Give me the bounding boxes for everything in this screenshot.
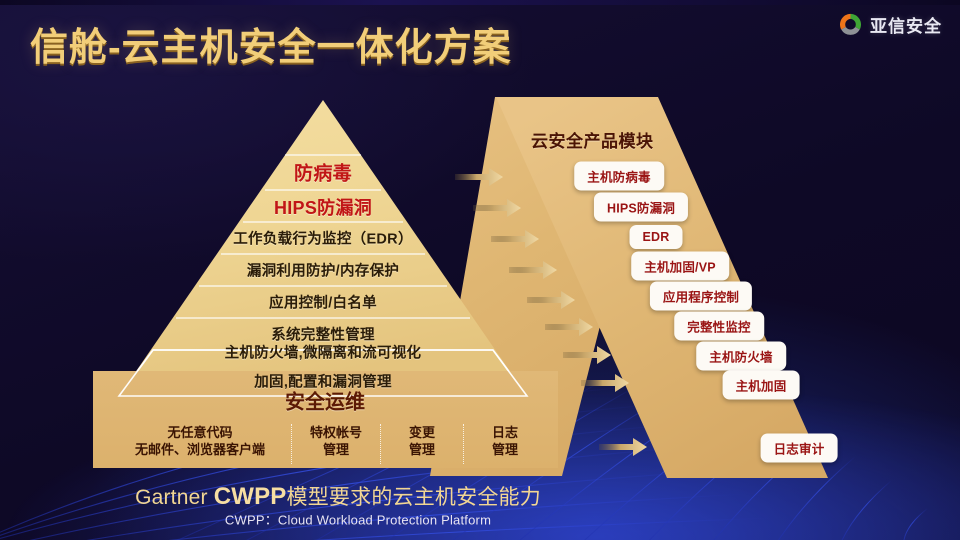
pyramid-layer-6: 主机防火墙,微隔离和流可视化: [225, 342, 422, 363]
pyramid-layer-2: 工作负载行为监控（EDR）: [233, 228, 413, 249]
caption: Gartner CWPP模型要求的云主机安全能力: [135, 481, 541, 511]
badge-3[interactable]: 主机加固/VP: [631, 252, 729, 281]
base-column-0: 无任意代码 无邮件、浏览器客户端: [110, 424, 290, 458]
pyramid-layer-1: HIPS防漏洞: [274, 194, 372, 220]
caption-prefix: Gartner: [135, 486, 214, 509]
badge-5[interactable]: 完整性监控: [674, 312, 764, 341]
base-col-3-line1: 日志: [492, 425, 518, 440]
badge-2[interactable]: EDR: [630, 225, 683, 249]
base-divider-0: [291, 424, 292, 464]
base-column-2: 变更 管理: [382, 424, 462, 458]
base-col-2-line1: 变更: [409, 425, 435, 440]
base-col-1-line1: 特权帐号: [310, 425, 362, 440]
base-col-0-line2: 无邮件、浏览器客户端: [110, 441, 290, 458]
badge-6[interactable]: 主机防火墙: [696, 342, 786, 371]
caption-emphasis: CWPP: [214, 483, 287, 510]
base-column-3: 日志 管理: [465, 424, 545, 458]
badge-4[interactable]: 应用程序控制: [650, 282, 752, 311]
slide-canvas: 信舱-云主机安全一体化方案 亚信安全: [0, 0, 960, 540]
sub-caption: CWPP：Cloud Workload Protection Platform: [225, 510, 491, 529]
base-col-3-line2: 管理: [465, 441, 545, 458]
caption-suffix: 模型要求的云主机安全能力: [287, 486, 541, 509]
base-divider-1: [380, 424, 381, 464]
base-title: 安全运维: [285, 386, 365, 415]
pyramid-layer-3: 漏洞利用防护/内存保护: [247, 260, 399, 281]
badge-1[interactable]: HIPS防漏洞: [594, 193, 688, 222]
base-col-0-line1: 无任意代码: [167, 425, 232, 440]
badge-0[interactable]: 主机防病毒: [574, 162, 664, 191]
base-column-1: 特权帐号 管理: [293, 424, 379, 458]
badge-7[interactable]: 主机加固: [723, 371, 800, 400]
base-col-2-line2: 管理: [382, 441, 462, 458]
pyramid-layer-0: 防病毒: [294, 159, 352, 186]
pyramid-layer-4: 应用控制/白名单: [269, 292, 377, 313]
base-columns: 无任意代码 无邮件、浏览器客户端 特权帐号 管理 变更 管理 日志 管理: [110, 424, 545, 468]
badge-8[interactable]: 日志审计: [761, 434, 838, 463]
base-col-1-line2: 管理: [293, 441, 379, 458]
base-divider-2: [463, 424, 464, 464]
